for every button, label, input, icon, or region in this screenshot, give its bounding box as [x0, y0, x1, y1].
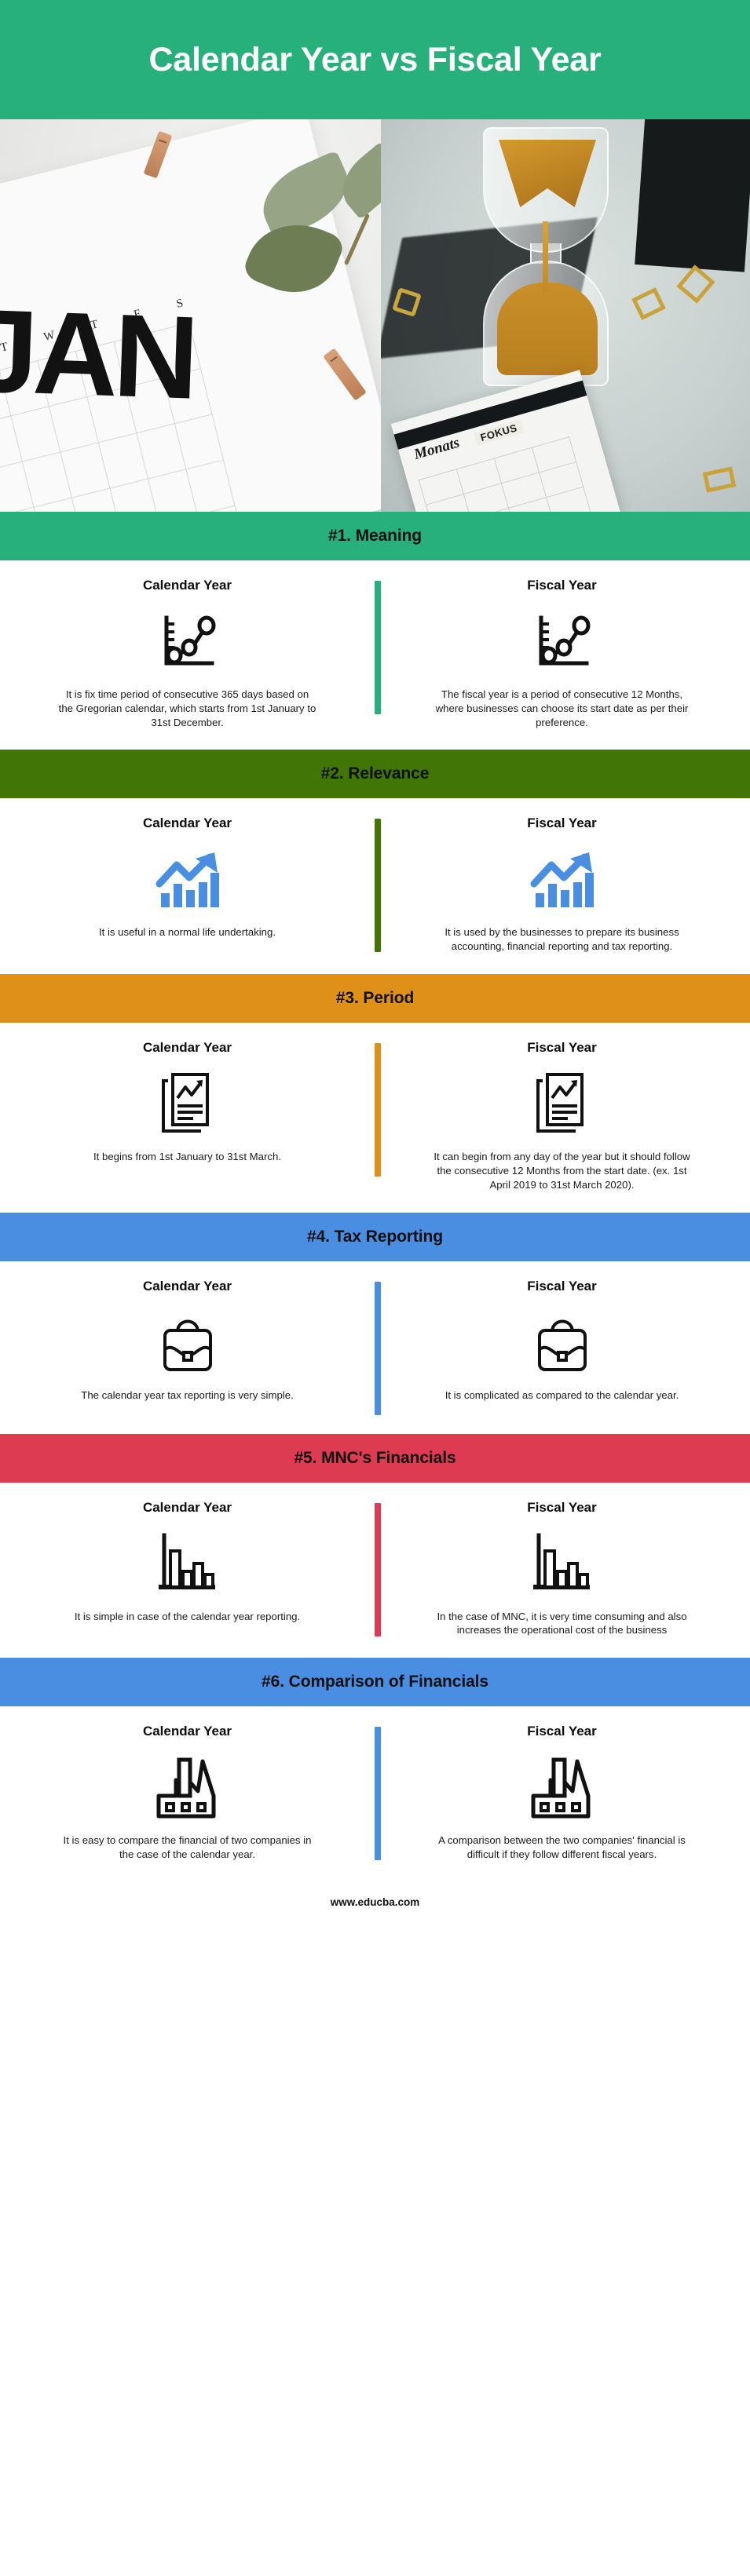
section-heading-6: #6. Comparison of Financials: [262, 1673, 488, 1691]
section-bar-4: #4. Tax Reporting: [0, 1213, 750, 1261]
briefcase-icon: [154, 1305, 221, 1381]
column-label-fiscal: Fiscal Year: [527, 578, 597, 593]
column-label-calendar: Calendar Year: [143, 1500, 232, 1516]
hero-photo-row: M T W T F S JAN: [0, 119, 750, 512]
column-label-calendar: Calendar Year: [143, 1040, 232, 1056]
section-divider-2: [375, 819, 381, 952]
calendar-text-4: The calendar year tax reporting is very …: [81, 1388, 293, 1403]
calendar-photo: M T W T F S JAN: [0, 119, 381, 512]
bar-chart-outline-icon: [531, 1527, 594, 1602]
footer-url[interactable]: www.educba.com: [331, 1896, 420, 1908]
hourglass-sand-stream: [543, 221, 548, 292]
section-heading-1: #1. Meaning: [328, 527, 422, 545]
section-body-1: Calendar Year It is fix time period of c…: [0, 560, 750, 750]
calendar-text-1: It is fix time period of consecutive 365…: [58, 688, 317, 729]
calendar-column-2: Calendar Year It is useful in a normal l…: [0, 815, 375, 954]
section-divider-4: [375, 1282, 381, 1415]
fiscal-text-6: A comparison between the two companies' …: [433, 1833, 692, 1862]
page-title: Calendar Year vs Fiscal Year: [148, 39, 601, 80]
section-divider-6: [375, 1727, 381, 1860]
factory-icon: [525, 1750, 599, 1826]
section-body-3: Calendar Year It begins from 1st January…: [0, 1023, 750, 1212]
section-heading-2: #2. Relevance: [321, 764, 430, 783]
calendar-column-5: Calendar Year It is simple in case of th…: [0, 1500, 375, 1638]
hourglass-photo: Monats FOKUS: [381, 119, 750, 512]
calendar-text-3: It begins from 1st January to 31st March…: [93, 1150, 281, 1164]
gold-paperclip: [676, 265, 715, 303]
column-label-fiscal: Fiscal Year: [527, 1724, 597, 1739]
calendar-column-3: Calendar Year It begins from 1st January…: [0, 1040, 375, 1191]
column-label-calendar: Calendar Year: [143, 1724, 232, 1739]
hourglass-sand-top: [499, 140, 596, 207]
column-label-calendar: Calendar Year: [143, 815, 232, 831]
section-divider-1: [375, 581, 381, 714]
hourglass-sand-bottom: [497, 283, 598, 375]
bar-chart-growth-arrow-icon: [155, 842, 221, 918]
section-bar-3: #3. Period: [0, 974, 750, 1023]
calendar-text-6: It is easy to compare the financial of t…: [58, 1833, 317, 1862]
fiscal-column-2: Fiscal Year It is used by the businesses…: [375, 815, 749, 954]
calendar-column-4: Calendar Year The calendar year tax repo…: [0, 1279, 375, 1414]
section-bar-6: #6. Comparison of Financials: [0, 1658, 750, 1706]
factory-icon: [151, 1750, 225, 1826]
calendar-text-2: It is useful in a normal life undertakin…: [99, 925, 276, 940]
line-chart-icon: [157, 604, 218, 680]
report-document-icon: [157, 1067, 218, 1142]
section-divider-5: [375, 1503, 381, 1636]
section-body-5: Calendar Year It is simple in case of th…: [0, 1483, 750, 1658]
fiscal-text-4: It is complicated as compared to the cal…: [445, 1388, 679, 1403]
calendar-column-6: Calendar Year It is easy to compare the …: [0, 1724, 375, 1862]
section-body-2: Calendar Year It is useful in a normal l…: [0, 798, 750, 974]
leaf-stem: [344, 213, 370, 265]
calendar-column-1: Calendar Year It is fix time period of c…: [0, 578, 375, 729]
fiscal-text-5: In the case of MNC, it is very time cons…: [433, 1610, 692, 1638]
bar-chart-growth-arrow-icon: [529, 842, 595, 918]
footer: www.educba.com: [0, 1882, 750, 1923]
fiscal-column-4: Fiscal Year It is complicated as compare…: [375, 1279, 749, 1414]
gold-paperclip: [631, 287, 666, 320]
column-label-fiscal: Fiscal Year: [527, 1040, 597, 1056]
calendar-text-5: It is simple in case of the calendar yea…: [75, 1610, 300, 1624]
line-chart-icon: [532, 604, 593, 680]
report-document-icon: [532, 1067, 593, 1142]
hourglass: [483, 127, 609, 386]
section-divider-3: [375, 1043, 381, 1177]
planner-notebook: Monats FOKUS: [391, 370, 621, 512]
column-label-calendar: Calendar Year: [143, 1279, 232, 1294]
fiscal-column-1: Fiscal Year The fiscal year is a period …: [375, 578, 749, 729]
fiscal-column-5: Fiscal Year In the case of MNC, it is ve…: [375, 1500, 749, 1638]
section-body-4: Calendar Year The calendar year tax repo…: [0, 1261, 750, 1434]
section-heading-3: #3. Period: [336, 989, 414, 1008]
gold-paperclip: [703, 466, 737, 492]
title-banner: Calendar Year vs Fiscal Year: [0, 0, 750, 119]
column-label-fiscal: Fiscal Year: [527, 1279, 597, 1294]
fiscal-text-1: The fiscal year is a period of consecuti…: [433, 688, 692, 729]
section-bar-1: #1. Meaning: [0, 512, 750, 560]
fiscal-text-3: It can begin from any day of the year bu…: [433, 1150, 692, 1191]
fiscal-column-6: Fiscal Year A comparison between the two…: [375, 1724, 749, 1862]
jan-label: JAN: [0, 283, 196, 426]
column-label-fiscal: Fiscal Year: [527, 815, 597, 831]
fiscal-column-3: Fiscal Year It can begin from any day of…: [375, 1040, 749, 1191]
column-label-fiscal: Fiscal Year: [527, 1500, 597, 1516]
section-heading-4: #4. Tax Reporting: [307, 1228, 443, 1246]
section-body-6: Calendar Year It is easy to compare the …: [0, 1706, 750, 1882]
section-bar-2: #2. Relevance: [0, 750, 750, 798]
fiscal-text-2: It is used by the businesses to prepare …: [433, 925, 692, 954]
dark-object: [635, 119, 750, 272]
section-heading-5: #5. MNC's Financials: [294, 1449, 455, 1468]
infographic-page: Calendar Year vs Fiscal Year M T W T F S: [0, 0, 750, 2576]
briefcase-icon: [529, 1305, 596, 1381]
section-bar-5: #5. MNC's Financials: [0, 1434, 750, 1483]
column-label-calendar: Calendar Year: [143, 578, 232, 593]
bar-chart-outline-icon: [156, 1527, 219, 1602]
